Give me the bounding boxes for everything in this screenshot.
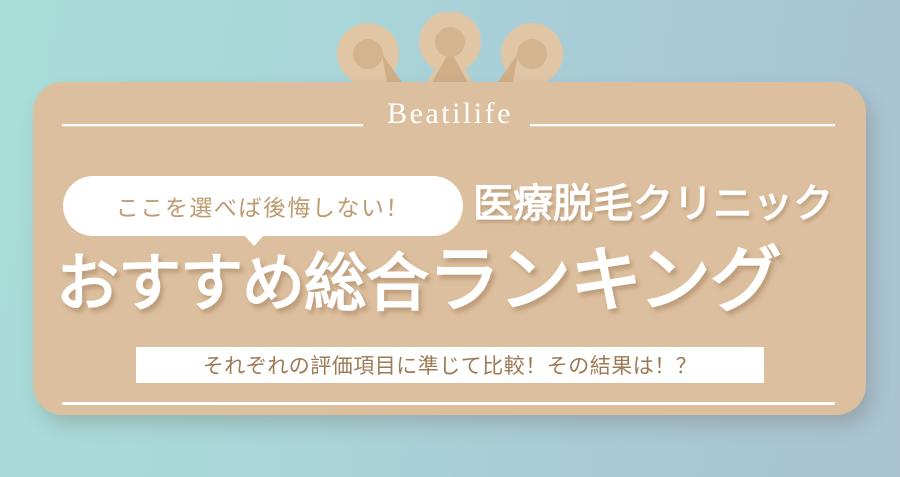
- page-title-part2: ランキング: [428, 238, 781, 322]
- subtitle-banner: それぞれの評価項目に準じて比較！その結果は！？: [136, 347, 764, 383]
- brand-name: Beatilife: [0, 99, 900, 129]
- hero-banner: Beatilife ここを選べば後悔しない！ 医療脱毛クリニック おすすめ総合ラ…: [0, 0, 900, 477]
- tagline-bubble-text: ここを選べば後悔しない！: [115, 189, 410, 223]
- divider-bottom: [62, 402, 835, 405]
- category-label: 医療脱毛クリニック: [473, 171, 833, 229]
- page-title: おすすめ総合ランキング: [56, 244, 781, 316]
- page-title-part1: おすすめ総合: [56, 247, 428, 320]
- tagline-bubble: ここを選べば後悔しない！: [63, 176, 463, 236]
- subtitle-banner-text: それぞれの評価項目に準じて比較！その結果は！？: [203, 350, 698, 380]
